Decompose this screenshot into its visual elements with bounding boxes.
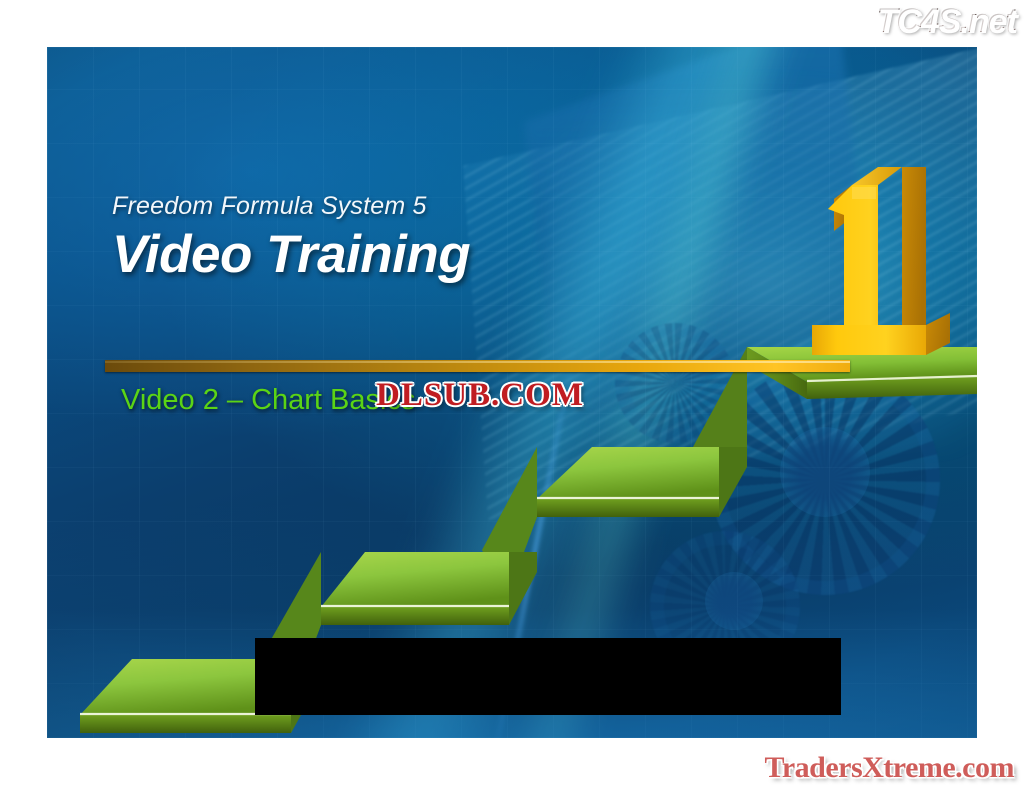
dlsub-watermark: DLSUB.COM <box>376 377 584 414</box>
numeral-one-graphic <box>792 143 977 383</box>
page-title: Video Training <box>112 227 470 283</box>
presentation-slide: Freedom Formula System 5 Video Training … <box>47 47 977 738</box>
gold-divider-rule <box>105 360 850 372</box>
tradersxtreme-watermark: TradersXtreme.com <box>765 751 1014 785</box>
tc4s-watermark: TC4S.net <box>877 2 1016 41</box>
headline-block: Freedom Formula System 5 Video Training <box>112 192 470 283</box>
subtitle-text: Video 2 – Chart Basics <box>121 384 415 417</box>
eyebrow-text: Freedom Formula System 5 <box>112 192 470 221</box>
page-root: TC4S.net <box>0 0 1024 791</box>
redaction-bar <box>255 638 841 715</box>
